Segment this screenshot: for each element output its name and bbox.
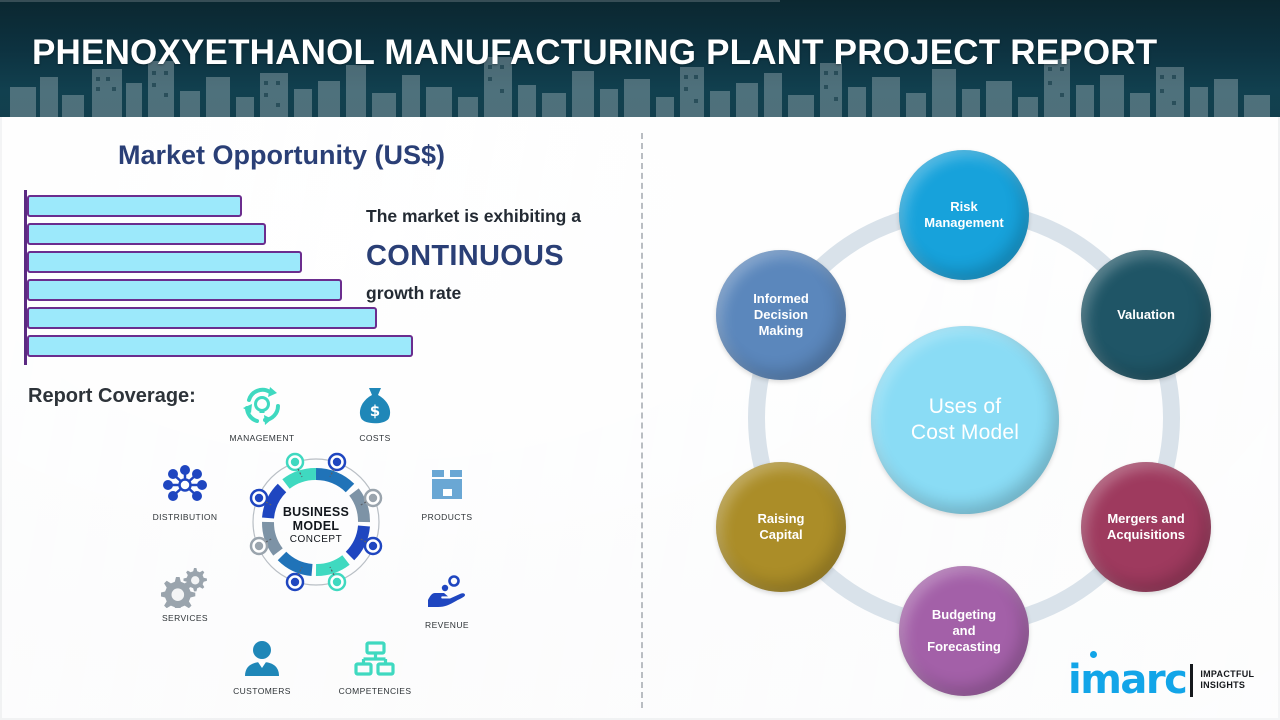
bm-line3: CONCEPT (242, 534, 390, 545)
node-mergers-and-acquisitions[interactable]: Mergers and Acquisitions (1081, 462, 1211, 592)
money-bag-icon: $ (320, 383, 430, 429)
table-row (27, 307, 377, 329)
coverage-item-management: MANAGEMENT (207, 383, 317, 443)
node-line1: Valuation (1117, 307, 1175, 323)
slide-canvas: PHENOXYETHANOL MANUFACTURING PLANT PROJE… (0, 0, 1280, 720)
table-row (27, 335, 413, 357)
node-line2: Acquisitions (1107, 527, 1185, 543)
node-line2: Management (924, 215, 1003, 231)
imarc-logo[interactable]: imarc IMPACTFUL INSIGHTS (1068, 660, 1254, 700)
coverage-label: DISTRIBUTION (130, 512, 240, 522)
package-box-icon (392, 462, 502, 508)
logo-tagline: IMPACTFUL INSIGHTS (1200, 669, 1254, 692)
coverage-item-services: SERVICES (130, 563, 240, 623)
coverage-item-customers: CUSTOMERS (207, 636, 317, 696)
growth-statement-line3: growth rate (366, 283, 461, 304)
market-opportunity-bar-chart (24, 190, 424, 365)
coverage-item-competencies: COMPETENCIES (320, 636, 430, 696)
coverage-label: MANAGEMENT (207, 433, 317, 443)
node-informed-decision-making[interactable]: Informed Decision Making (716, 250, 846, 380)
coverage-item-products: PRODUCTS (392, 462, 502, 522)
gears-icon (130, 563, 240, 609)
growth-statement-emphasis: CONTINUOUS (366, 240, 564, 273)
coverage-item-revenue: REVENUE (392, 570, 502, 630)
node-raising-capital[interactable]: Raising Capital (716, 462, 846, 592)
network-nodes-icon (130, 462, 240, 508)
bm-line1: BUSINESS (242, 505, 390, 519)
center-line2: Cost Model (911, 420, 1019, 446)
node-line1: Raising (758, 511, 805, 527)
table-row (27, 195, 242, 217)
node-valuation[interactable]: Valuation (1081, 250, 1211, 380)
logo-tagline-line2: INSIGHTS (1200, 680, 1254, 691)
node-line2: and (927, 623, 1001, 639)
recycle-bulb-icon (207, 383, 317, 429)
node-line3: Forecasting (927, 639, 1001, 655)
coverage-item-distribution: DISTRIBUTION (130, 462, 240, 522)
logo-tagline-line1: IMPACTFUL (1200, 669, 1254, 680)
table-row (27, 223, 266, 245)
bm-line2: MODEL (242, 519, 390, 533)
header-banner: PHENOXYETHANOL MANUFACTURING PLANT PROJE… (0, 0, 1280, 117)
market-opportunity-title: Market Opportunity (US$) (118, 140, 445, 171)
logo-dot-icon (1090, 651, 1097, 658)
coverage-label: COSTS (320, 433, 430, 443)
logo-wordmark: imarc (1068, 660, 1186, 700)
logo-divider (1190, 664, 1193, 697)
center-line1: Uses of (911, 394, 1019, 420)
node-line1: Mergers and (1107, 511, 1185, 527)
coverage-label: PRODUCTS (392, 512, 502, 522)
coverage-label: CUSTOMERS (207, 686, 317, 696)
growth-statement-line1: The market is exhibiting a (366, 206, 581, 227)
coverage-label: SERVICES (130, 613, 240, 623)
page-title: PHENOXYETHANOL MANUFACTURING PLANT PROJE… (32, 33, 1157, 73)
node-line2: Decision (753, 307, 809, 323)
panel-divider (641, 133, 643, 708)
coverage-item-costs: $ COSTS (320, 383, 430, 443)
hand-coins-icon (392, 570, 502, 616)
svg-text:$: $ (370, 402, 380, 420)
coverage-label: REVENUE (392, 620, 502, 630)
node-budgeting-and-forecasting[interactable]: Budgeting and Forecasting (899, 566, 1029, 696)
report-coverage-label: Report Coverage: (28, 385, 196, 408)
node-uses-of-cost-model: Uses of Cost Model (871, 326, 1059, 514)
business-model-wheel-text: BUSINESS MODEL CONCEPT (242, 505, 390, 545)
coverage-label: COMPETENCIES (320, 686, 430, 696)
org-chart-icon (320, 636, 430, 682)
node-line3: Making (753, 323, 809, 339)
person-icon (207, 636, 317, 682)
node-line1: Risk (924, 199, 1003, 215)
header-topline (0, 0, 780, 2)
node-line1: Informed (753, 291, 809, 307)
table-row (27, 251, 302, 273)
node-risk-management[interactable]: Risk Management (899, 150, 1029, 280)
table-row (27, 279, 342, 301)
node-line2: Capital (758, 527, 805, 543)
node-line1: Budgeting (927, 607, 1001, 623)
